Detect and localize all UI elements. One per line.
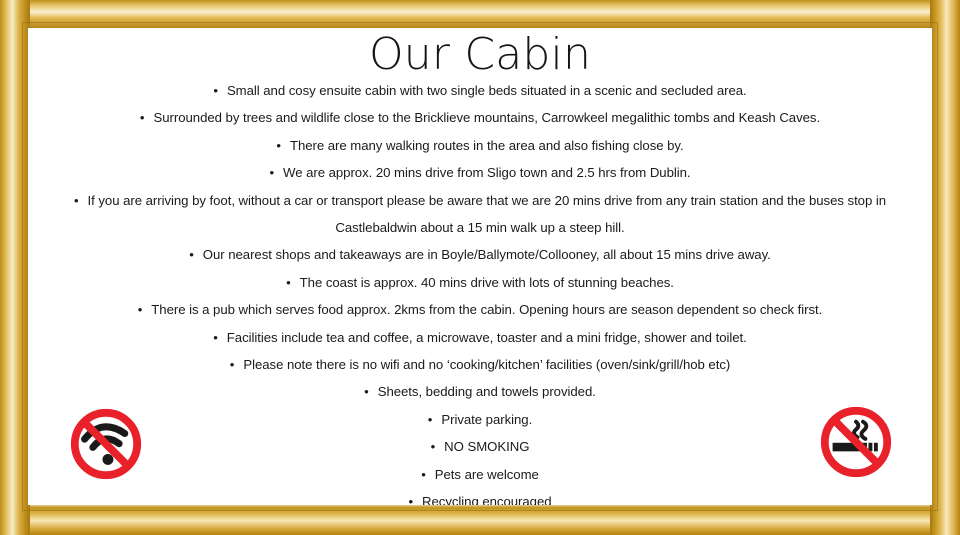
bullet-glyph: • [230, 357, 235, 372]
bullet-glyph: • [213, 330, 218, 345]
list-item: •Private parking. [28, 406, 932, 433]
list-item-text: We are approx. 20 mins drive from Sligo … [283, 165, 691, 180]
list-item: •If you are arriving by foot, without a … [28, 187, 932, 242]
list-item-text: The coast is approx. 40 mins drive with … [300, 275, 674, 290]
frame-edge-left [0, 0, 30, 535]
bullet-glyph: • [213, 83, 218, 98]
bullet-list: •Small and cosy ensuite cabin with two s… [28, 77, 932, 505]
list-item-text: Small and cosy ensuite cabin with two si… [227, 83, 747, 98]
list-item-text: Please note there is no wifi and no ‘coo… [243, 357, 730, 372]
list-item-text: Facilities include tea and coffee, a mic… [227, 330, 747, 345]
list-item: •There is a pub which serves food approx… [28, 296, 932, 323]
list-item: •Please note there is no wifi and no ‘co… [28, 351, 932, 378]
list-item-text: Private parking. [441, 412, 532, 427]
list-item: •Pets are welcome [28, 461, 932, 488]
no-wifi-icon [67, 405, 145, 483]
bullet-glyph: • [428, 412, 433, 427]
bullet-glyph: • [74, 193, 79, 208]
frame-edge-right [930, 0, 960, 535]
bullet-glyph: • [408, 494, 413, 505]
list-item: •Our nearest shops and takeaways are in … [28, 241, 932, 268]
list-item-text: There are many walking routes in the are… [290, 138, 684, 153]
bullet-glyph: • [189, 247, 194, 262]
list-item: •Surrounded by trees and wildlife close … [28, 104, 932, 131]
list-item: •The coast is approx. 40 mins drive with… [28, 269, 932, 296]
bullet-glyph: • [276, 138, 281, 153]
bullet-glyph: • [140, 110, 145, 125]
list-item-text: Pets are welcome [435, 467, 539, 482]
list-item-text: There is a pub which serves food approx.… [151, 302, 822, 317]
list-item-text: Our nearest shops and takeaways are in B… [203, 247, 771, 262]
list-item: •Sheets, bedding and towels provided. [28, 378, 932, 405]
list-item-text: Recycling encouraged [422, 494, 552, 505]
list-item: •We are approx. 20 mins drive from Sligo… [28, 159, 932, 186]
bullet-glyph: • [269, 165, 274, 180]
frame-edge-bottom [0, 503, 960, 535]
bullet-glyph: • [138, 302, 143, 317]
list-item: •There are many walking routes in the ar… [28, 132, 932, 159]
list-item: •Small and cosy ensuite cabin with two s… [28, 77, 932, 104]
list-item: •Recycling encouraged [28, 488, 932, 505]
list-item-text: NO SMOKING [444, 439, 529, 454]
bullet-glyph: • [286, 275, 291, 290]
no-smoking-icon [817, 403, 895, 481]
list-item-text: If you are arriving by foot, without a c… [88, 193, 887, 235]
bullet-glyph: • [431, 439, 436, 454]
bullet-glyph: • [421, 467, 426, 482]
list-item-text: Surrounded by trees and wildlife close t… [154, 110, 821, 125]
bullet-glyph: • [364, 384, 369, 399]
list-item: •NO SMOKING [28, 433, 932, 460]
slide-canvas: Our Cabin •Small and cosy ensuite cabin … [0, 0, 960, 535]
list-item-text: Sheets, bedding and towels provided. [378, 384, 596, 399]
frame-edge-top [0, 0, 960, 30]
list-item: •Facilities include tea and coffee, a mi… [28, 324, 932, 351]
slide-content-page: Our Cabin •Small and cosy ensuite cabin … [28, 28, 932, 505]
page-title: Our Cabin [28, 33, 932, 77]
